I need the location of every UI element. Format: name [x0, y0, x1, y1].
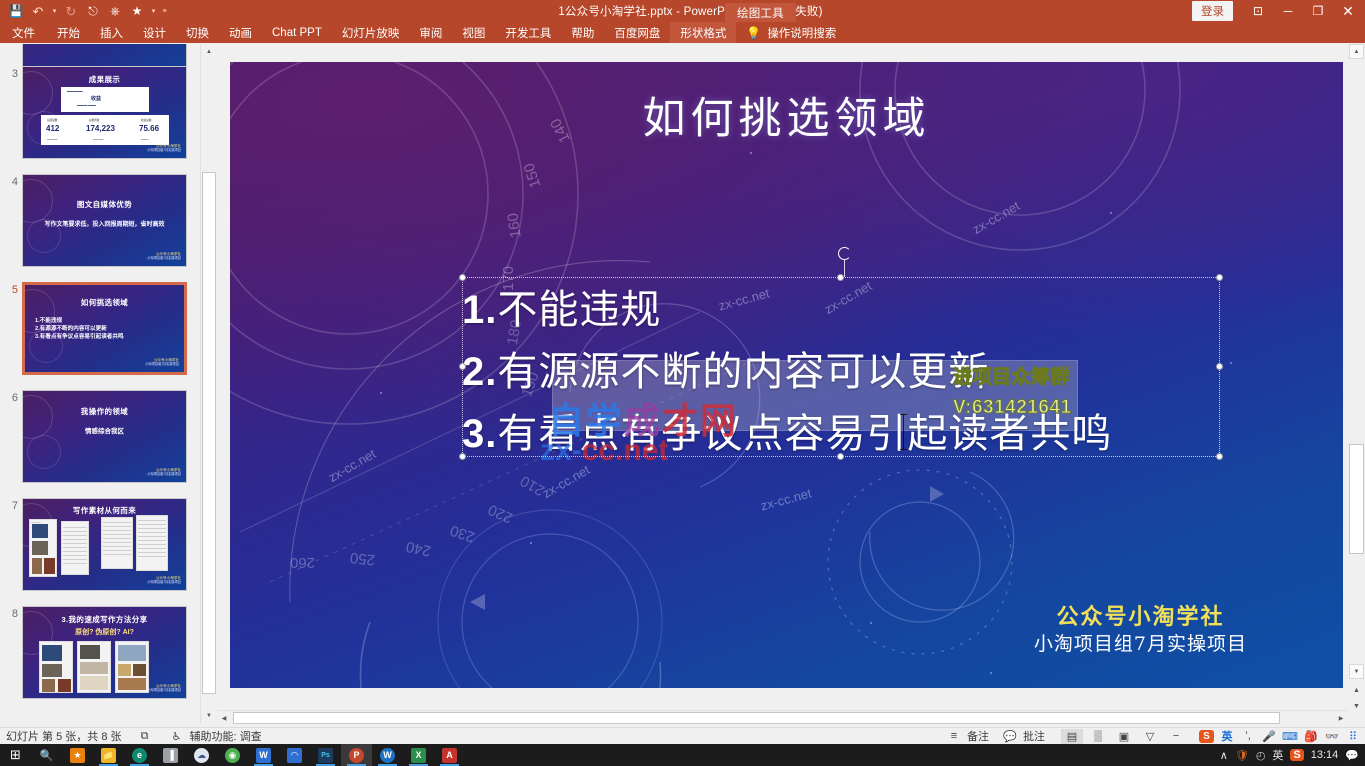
thumb-screenshot — [77, 641, 111, 693]
excel-icon: X — [411, 748, 426, 763]
ribbon-tab-file[interactable]: 文件 — [0, 22, 47, 43]
edge-icon: e — [132, 748, 147, 763]
language-icon: ⧉ — [136, 729, 154, 744]
ribbon-tab-design[interactable]: 设计 — [133, 22, 176, 43]
slide-title-text[interactable]: 如何挑选领域 — [230, 84, 1343, 146]
thumbnail-title: 我操作的领域 — [23, 406, 186, 417]
photoshop-icon: Ps — [318, 748, 333, 763]
resize-handle-e[interactable] — [1216, 363, 1223, 370]
thumbnail-footer: 公众号小淘学社 小淘项目组7月实操项目 — [147, 684, 181, 692]
slide-footer: 公众号小淘学社 小淘项目组7月实操项目 — [1034, 603, 1247, 658]
thumbnail-footer: 公众号小淘学社 小淘项目组7月实操项目 — [147, 576, 181, 584]
thumb-screenshot — [61, 521, 89, 575]
favorite-dropdown-icon[interactable]: ▾ — [149, 7, 158, 15]
star-dot — [750, 152, 752, 154]
thumbnail-slide-4[interactable]: 图文自媒体优势 写作文笔要求低，投入回报周期短，省时高效 公众号小淘学社 小淘项… — [22, 174, 187, 267]
notes-label: 备注 — [967, 728, 989, 744]
taskbar-search-button[interactable]: 🔍 — [31, 744, 62, 766]
leaf-icon: ◠ — [287, 748, 302, 763]
thumbnail-body-line: 1.不能违规 — [35, 317, 178, 325]
minimize-icon[interactable]: ─ — [1273, 0, 1303, 22]
rotation-handle[interactable] — [838, 247, 851, 260]
taskbar-item-edge[interactable]: e — [124, 744, 155, 766]
tray-sogou-icon[interactable]: S — [1290, 749, 1303, 761]
taskbar-item-powerpoint[interactable]: P — [341, 744, 372, 766]
thumb-stat-value: 174,223 — [86, 124, 115, 133]
tray-ime-icon[interactable]: 英 — [1272, 747, 1283, 763]
taskbar-clock[interactable]: 13:14 — [1311, 749, 1339, 761]
undo-icon[interactable]: ↶ — [28, 2, 48, 20]
thumbnail-footer-sub: 小淘项目组7月实操项目 — [145, 362, 179, 366]
word-icon: W — [380, 748, 395, 763]
pdf-icon: A — [442, 748, 457, 763]
thumbnail-footer: 公众号小淘学社 小淘项目组7月实操项目 — [147, 252, 181, 260]
taskbar-item-usb[interactable]: ▐ — [155, 744, 186, 766]
thumb-screenshot — [136, 515, 168, 571]
favorite-icon[interactable]: ★ — [127, 2, 147, 20]
slide-thumbnail-pane[interactable]: 2 3 成果展示 ▬▬▬▬▬▬ 收益 ▬▬▬▬ ▬▬▬ 总阅读数 412 总推荐… — [0, 44, 200, 724]
windows-taskbar[interactable]: ⊞ 🔍 ★ 📁 e ▐ ☁ ◉ W ◠ Ps P W X A ∧ 🛡 ◴ — [0, 744, 1365, 766]
comments-label: 批注 — [1023, 728, 1045, 744]
system-tray: ∧ 🛡 ◴ 英 S 13:14 💬 — [1220, 747, 1365, 763]
start-button[interactable]: ⊞ — [0, 744, 31, 766]
tray-expand-icon[interactable]: ∧ — [1220, 749, 1228, 762]
resize-handle-nw[interactable] — [459, 274, 466, 281]
tray-network-icon[interactable]: ◴ — [1256, 749, 1266, 762]
slide-footer-sub: 小淘项目组7月实操项目 — [1034, 632, 1247, 658]
thumbnail-pane-scrollbar[interactable]: ▲ ▼ — [200, 44, 216, 724]
ribbon-tab-slideshow[interactable]: 幻灯片放映 — [332, 22, 410, 43]
powerpoint-icon: P — [349, 748, 364, 763]
thumbnail-footer: 公众号小淘学社 小淘项目组7月实操项目 — [145, 358, 179, 366]
thumb-stat-caption: 收益总额 — [141, 118, 151, 122]
resize-handle-s[interactable] — [837, 453, 844, 460]
scroll-up-icon[interactable]: ▲ — [1349, 44, 1364, 59]
thumbnail-footer: 公众号小淘学社 小淘项目组7月实操项目 — [147, 144, 181, 152]
thumbnail-footer-sub: 小淘项目组7月实操项目 — [147, 148, 181, 152]
ime-punctuation-icon[interactable]: ’, — [1240, 729, 1256, 744]
ribbon-tab-help[interactable]: 帮助 — [561, 22, 604, 43]
resize-handle-n[interactable] — [837, 274, 844, 281]
thumbnail-number: 7 — [0, 498, 22, 591]
ime-more-icon[interactable]: ⠿ — [1345, 729, 1361, 744]
thumbnail-slide-3[interactable]: 成果展示 ▬▬▬▬▬▬ 收益 ▬▬▬▬ ▬▬▬ 总阅读数 412 总推荐量 17… — [22, 66, 187, 159]
sign-in-button[interactable]: 登录 — [1192, 1, 1233, 21]
thumb-stat-caption: 总阅读数 — [47, 118, 57, 122]
list-item[interactable]: 3 成果展示 ▬▬▬▬▬▬ 收益 ▬▬▬▬ ▬▬▬ 总阅读数 412 总推荐量 … — [0, 66, 200, 159]
thumbnail-footer-sub: 小淘项目组7月实操项目 — [147, 580, 181, 584]
usb-icon: ▐ — [163, 748, 178, 763]
comment-icon: 💬 — [1001, 729, 1019, 744]
star-dot — [870, 622, 872, 624]
thumb-stat-value: 412 — [46, 124, 59, 133]
thumbnail-footer: 公众号小淘学社 小淘项目组7月实操项目 — [147, 468, 181, 476]
shape-selection-border — [462, 277, 1220, 457]
thumbnail-body-line: 2.有源源不断的内容可以更新 — [35, 325, 178, 333]
next-slide-button[interactable]: ▼ — [1350, 700, 1363, 713]
title-bar-right: 登录 ⊡ ─ ❐ ✕ — [1192, 0, 1365, 22]
action-center-icon[interactable]: 💬 — [1345, 749, 1359, 762]
thumbnail-slide-5[interactable]: 如何挑选领域 1.不能违规 2.有源源不断的内容可以更新 3.有看点有争议点容易… — [22, 282, 187, 375]
taskbar-item-wps[interactable]: W — [248, 744, 279, 766]
thumbnail-footer-sub: 小淘项目组7月实操项目 — [147, 688, 181, 692]
tell-me-box[interactable]: 💡 操作说明搜索 — [736, 22, 846, 43]
ribbon-tab-view[interactable]: 视图 — [452, 22, 495, 43]
thumbnail-title: 如何挑选领域 — [25, 297, 184, 308]
thumb-stat-caption: 总推荐量 — [89, 118, 99, 122]
star-icon: ★ — [70, 748, 85, 763]
star-dot — [530, 542, 532, 544]
slide-count-indicator[interactable]: 幻灯片 第 5 张，共 8 张 — [6, 728, 122, 744]
dial-number: 260 — [290, 554, 315, 571]
search-icon: 🔍 — [40, 749, 54, 762]
tell-me-label: 操作说明搜索 — [767, 25, 836, 41]
status-bar: 幻灯片 第 5 张，共 8 张 ⧉ ♿ 辅助功能: 调查 ≡ 备注 💬 批注 ▤… — [0, 727, 1365, 744]
thumbnail-slide-6[interactable]: 我操作的领域 情感综合我区 公众号小淘学社 小淘项目组7月实操项目 — [22, 390, 187, 483]
ribbon-tab-review[interactable]: 审阅 — [409, 22, 452, 43]
star-dot — [1230, 362, 1232, 364]
thumbnail-title: 成果展示 — [23, 74, 186, 85]
close-icon[interactable]: ✕ — [1333, 0, 1363, 22]
ribbon-display-options-icon[interactable]: ⊡ — [1243, 0, 1273, 22]
list-item[interactable]: 5 如何挑选领域 1.不能违规 2.有源源不断的内容可以更新 3.有看点有争议点… — [0, 282, 200, 375]
slide-footer-brand: 公众号小淘学社 — [1034, 603, 1247, 633]
sogou-logo-icon[interactable]: S — [1199, 730, 1214, 743]
ribbon-tab-animations[interactable]: 动画 — [219, 22, 262, 43]
list-item[interactable]: 4 图文自媒体优势 写作文笔要求低，投入回报周期短，省时高效 公众号小淘学社 小… — [0, 174, 200, 267]
taskbar-item-photoshop[interactable]: Ps — [310, 744, 341, 766]
ime-toolbox-icon[interactable]: 🎒 — [1303, 729, 1319, 744]
resize-handle-sw[interactable] — [459, 453, 466, 460]
thumbnail-number: 5 — [0, 282, 22, 375]
ribbon-tab-developer[interactable]: 开发工具 — [495, 22, 561, 43]
taskbar-item-cloud[interactable]: ☁ — [186, 744, 217, 766]
text-cursor-icon — [903, 414, 904, 450]
scroll-down-icon[interactable]: ▼ — [1349, 664, 1364, 679]
thumb-card-value: 收益 — [91, 95, 101, 102]
scrollbar-thumb[interactable] — [202, 172, 216, 694]
save-icon[interactable]: 💾 — [6, 2, 26, 20]
scroll-down-icon[interactable]: ▼ — [201, 708, 217, 724]
scrollbar-thumb-vertical[interactable] — [1349, 444, 1364, 554]
undo-dropdown-icon[interactable]: ▾ — [50, 7, 59, 15]
ribbon-tab-strip: 文件 开始 插入 设计 切换 动画 Chat PPT 幻灯片放映 审阅 视图 开… — [0, 22, 1365, 43]
ribbon-tab-insert[interactable]: 插入 — [90, 22, 133, 43]
restore-icon[interactable]: ❐ — [1303, 0, 1333, 22]
star-dot — [1110, 212, 1112, 214]
list-item[interactable]: 8 3.我的速成写作方法分享 原创? 伪原创? AI? — [0, 606, 200, 699]
decor-circle-icon — [27, 435, 61, 469]
thumb-screenshot — [115, 641, 149, 693]
thumb-screenshot — [101, 517, 133, 569]
thumbnail-slide-7[interactable]: 写作素材从何而来 — [22, 498, 187, 591]
rotation-handle-stem — [844, 260, 845, 277]
thumbnail-subtitle: 情感综合我区 — [23, 425, 186, 435]
accessibility-icon: ♿ — [168, 729, 186, 744]
slide-count-label: 幻灯片 第 5 张，共 8 张 — [6, 728, 122, 744]
comments-button[interactable]: 💬 批注 — [1001, 728, 1045, 744]
language-indicator[interactable]: ⧉ — [136, 729, 154, 744]
resize-handle-w[interactable] — [459, 363, 466, 370]
star-dot — [990, 672, 992, 674]
slideshow-button[interactable]: ▽ — [1139, 729, 1161, 744]
ime-chinese-english-icon[interactable]: 英 — [1219, 729, 1235, 744]
ime-skin-icon[interactable]: 👓 — [1324, 729, 1340, 744]
lightbulb-icon: 💡 — [746, 26, 761, 40]
title-bar-center: 绘图工具 1公众号小淘学社.pptx - PowerPoint(产品激活失败) — [169, 3, 1192, 19]
thumbnail-number: 6 — [0, 390, 22, 483]
start-from-current-icon[interactable]: ⎈ — [105, 2, 125, 20]
ribbon-tab-baidu-netdisk[interactable]: 百度网盘 — [604, 22, 670, 43]
thumbnail-subtitle: 写作文笔要求低，投入回报周期短，省时高效 — [23, 219, 186, 228]
thumbnail-body-line: 3.有看点有争议点容易引起读者共鸣 — [35, 333, 178, 341]
accessibility-label: 辅助功能: 调查 — [190, 728, 262, 744]
tray-security-icon[interactable]: 🛡 — [1235, 749, 1249, 762]
ime-voice-icon[interactable]: 🎤 — [1261, 729, 1277, 744]
cloud-icon: ☁ — [194, 748, 209, 763]
scroll-up-icon[interactable]: ▲ — [201, 44, 217, 60]
thumbnail-body: 1.不能违规 2.有源源不断的内容可以更新 3.有看点有争议点容易引起读者共鸣 — [35, 317, 178, 341]
thumb-screenshot — [39, 641, 73, 693]
slide-editing-stage[interactable]: 140 150 160 170 180 190 200 210 220 230 … — [217, 44, 1348, 712]
thumbnail-number: 3 — [0, 66, 22, 159]
customize-qat-icon[interactable]: ≡ — [160, 8, 169, 15]
previous-slide-button[interactable]: ▲ — [1350, 684, 1363, 697]
vertical-scrollbar[interactable]: ▲ ▼ ▲ ▼ — [1348, 44, 1365, 724]
list-item[interactable]: 6 我操作的领域 情感综合我区 公众号小淘学社 小淘项目组7月实操项目 — [0, 390, 200, 483]
taskbar-item-file-explorer[interactable]: 📁 — [93, 744, 124, 766]
ribbon-tab-home[interactable]: 开始 — [47, 22, 90, 43]
notes-icon: ≡ — [945, 729, 963, 744]
redo-icon[interactable]: ↻ — [61, 2, 81, 20]
thumbnail-footer-sub: 小淘项目组7月实操项目 — [147, 472, 181, 476]
dial-number: 160 — [504, 212, 524, 239]
taskbar-item-word[interactable]: W — [372, 744, 403, 766]
zoom-out-button[interactable]: − — [1165, 729, 1187, 744]
ribbon-tab-shape-format[interactable]: 形状格式 — [670, 22, 736, 43]
thumb-stat-value: 75.66 — [139, 124, 159, 133]
taskbar-item-leaf[interactable]: ◠ — [279, 744, 310, 766]
scroll-left-icon[interactable]: ◀ — [217, 711, 231, 725]
quick-access-toolbar: 💾 ↶ ▾ ↻ ⎋ ⎈ ★ ▾ ≡ — [0, 2, 169, 20]
resize-handle-ne[interactable] — [1216, 274, 1223, 281]
start-from-beginning-icon[interactable]: ⎋ — [83, 2, 103, 20]
scrollbar-thumb-horizontal[interactable] — [233, 712, 1280, 724]
thumbnail-number: 8 — [0, 606, 22, 699]
list-item[interactable]: 7 写作素材从何而来 — [0, 498, 200, 591]
taskbar-item-explorer-star[interactable]: ★ — [62, 744, 93, 766]
windows-start-icon: ⊞ — [10, 747, 21, 763]
thumbnail-subtitle: 原创? 伪原创? AI? — [23, 627, 186, 637]
thumbnail-title: 3.我的速成写作方法分享 — [23, 614, 186, 625]
chrome-icon: ◉ — [225, 748, 240, 763]
thumb-card: ▬▬▬▬▬▬ 收益 ▬▬▬▬ ▬▬▬ — [61, 87, 149, 112]
title-bar: 💾 ↶ ▾ ↻ ⎋ ⎈ ★ ▾ ≡ 绘图工具 1公众号小淘学社.pptx - P… — [0, 0, 1365, 22]
ribbon-tab-chatppt[interactable]: Chat PPT — [262, 22, 332, 43]
thumbnail-slide-8[interactable]: 3.我的速成写作方法分享 原创? 伪原创? AI? 公众号小淘学社 — [22, 606, 187, 699]
reading-view-button[interactable]: ▣ — [1113, 729, 1135, 744]
taskbar-item-chrome[interactable]: ◉ — [217, 744, 248, 766]
accessibility-indicator[interactable]: ♿ 辅助功能: 调查 — [168, 728, 262, 744]
thumbnail-number: 4 — [0, 174, 22, 267]
resize-handle-se[interactable] — [1216, 453, 1223, 460]
ime-toolbar[interactable]: S 英 ’, 🎤 ⌨ 🎒 👓 ⠿ — [1199, 729, 1361, 744]
status-bar-left: 幻灯片 第 5 张，共 8 张 ⧉ ♿ 辅助功能: 调查 — [0, 728, 262, 744]
notes-button[interactable]: ≡ 备注 — [945, 728, 989, 744]
star-dot — [380, 392, 382, 394]
dial-number: 250 — [349, 549, 376, 569]
status-bar-right: ≡ 备注 💬 批注 ▤ ▒ ▣ ▽ − S 英 ’, 🎤 ⌨ 🎒 👓 ⠿ — [945, 728, 1365, 744]
thumbnail-title: 图文自媒体优势 — [23, 199, 186, 210]
thumb-card: 总阅读数 412 总推荐量 174,223 收益总额 75.66 ▬▬▬▬ ▬▬… — [41, 115, 169, 145]
folder-icon: 📁 — [101, 748, 116, 763]
wps-icon: W — [256, 748, 271, 763]
normal-view-button[interactable]: ▤ — [1061, 729, 1083, 744]
slide-sorter-button[interactable]: ▒ — [1087, 729, 1109, 744]
ime-keyboard-icon[interactable]: ⌨ — [1282, 729, 1298, 744]
thumbnail-footer-sub: 小淘项目组7月实操项目 — [147, 256, 181, 260]
ribbon-tab-transitions[interactable]: 切换 — [176, 22, 219, 43]
horizontal-scrollbar[interactable]: ◀ ▶ — [217, 710, 1348, 724]
taskbar-item-excel[interactable]: X — [403, 744, 434, 766]
thumb-screenshot — [29, 519, 57, 577]
taskbar-item-pdf[interactable]: A — [434, 744, 465, 766]
scroll-right-icon[interactable]: ▶ — [1334, 711, 1348, 725]
current-slide[interactable]: 140 150 160 170 180 190 200 210 220 230 … — [230, 62, 1343, 688]
